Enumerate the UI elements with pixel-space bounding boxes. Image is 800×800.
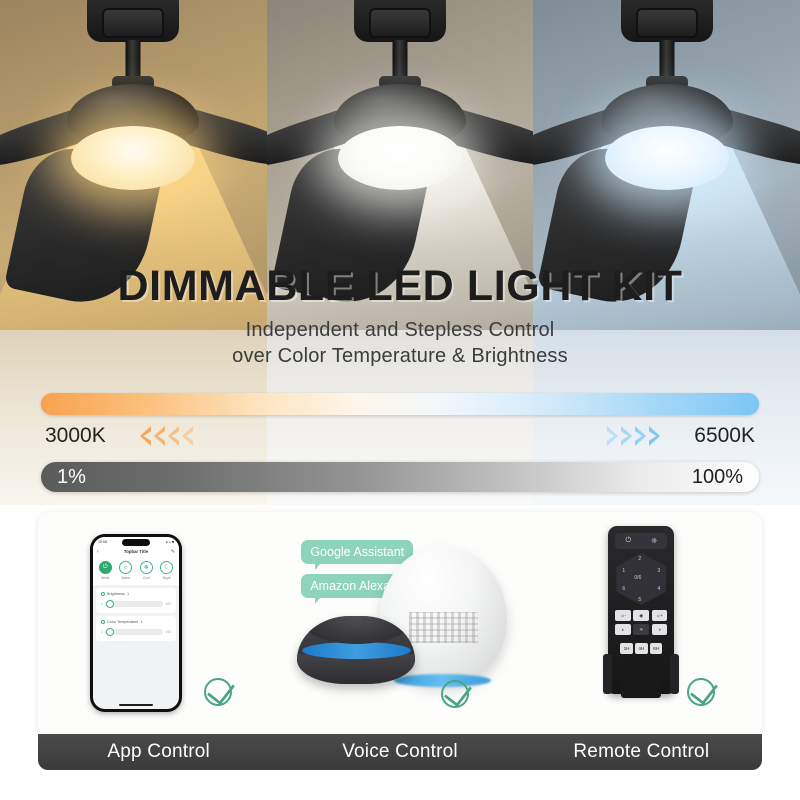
fan-icon[interactable]: ❊ [651, 537, 657, 545]
speed-3[interactable]: 3 [658, 568, 661, 574]
speed-5[interactable]: 5 [638, 597, 641, 603]
color-temperature-slider[interactable]: 1 100 [101, 629, 171, 635]
remote-function-row-1: ☼- ◉ ☼+ [615, 610, 667, 621]
slider-min: 1 [101, 602, 103, 606]
status-icons: ▸ ▵ ■ [166, 540, 174, 544]
ceiling-mount [354, 0, 446, 42]
status-time: 10:08 [98, 540, 107, 544]
power-icon[interactable]: ⏻ [625, 537, 631, 545]
brightness-max-label: 100% [692, 466, 743, 489]
slider-min: 1 [101, 630, 103, 634]
brightness-icon [101, 592, 105, 596]
google-assistant-bubble: Google Assistant [301, 540, 413, 564]
phone-status-bar: 10:08 ▸ ▵ ■ [93, 537, 179, 546]
brightness-slider[interactable]: 1 100 [101, 601, 171, 607]
echo-dot-top [302, 616, 411, 644]
brightness-value: 1 [127, 592, 129, 596]
phone-notch [122, 539, 150, 546]
echo-dot-speaker [297, 616, 415, 684]
control-methods-columns: 10:08 ▸ ▵ ■ ‹ Topbar Title ✎ ⏻ White [38, 512, 762, 734]
fan-speed-hex-pad[interactable]: 2 1 3 0/6 6 4 5 [616, 553, 666, 605]
moon-icon: ☾ [160, 561, 173, 574]
led-light-kit [71, 126, 195, 190]
mode-warm[interactable]: ☼ Warm [116, 561, 136, 580]
dim-down-icon[interactable]: ☼- [615, 610, 631, 621]
title-block: DIMMABLE LED LIGHT KIT Independent and S… [0, 262, 800, 368]
slider-max: 100 [165, 602, 171, 606]
dim-up-icon[interactable]: ☼+ [652, 610, 668, 621]
speed-4[interactable]: 4 [658, 586, 661, 592]
timer-4h-button[interactable]: 4H [635, 643, 647, 654]
timer-8h-button[interactable]: 8H [650, 643, 662, 654]
light-mode-row: ⏻ White ☼ Warm ❄ Cool ☾ [93, 557, 179, 585]
mode-night[interactable]: ☾ Night [157, 561, 177, 580]
check-circle-icon [685, 675, 719, 709]
speed-1[interactable]: 1 [622, 568, 625, 574]
light-toggle-icon[interactable]: ◉ [633, 610, 649, 621]
slider-knob[interactable] [106, 600, 114, 608]
mode-label: Warm [116, 576, 136, 580]
mode-cool[interactable]: ❄ Cool [136, 561, 156, 580]
speed-2[interactable]: 2 [638, 556, 641, 562]
footer-label-app: App Control [38, 734, 279, 770]
back-chevron-icon[interactable]: ‹ [97, 549, 99, 555]
color-temperature-bar[interactable] [41, 393, 759, 415]
remote-function-row-2: ◐ ☀ ◑ [615, 624, 667, 635]
slider-knob[interactable] [106, 628, 114, 636]
cool-chevrons-icon [607, 426, 661, 446]
app-topbar-title: Topbar Title [124, 549, 148, 554]
cool-icon[interactable]: ◑ [652, 624, 668, 635]
remote-holder-clip [603, 654, 612, 694]
check-circle-icon [439, 677, 473, 711]
power-icon: ⏻ [99, 561, 112, 574]
page-title: DIMMABLE LED LIGHT KIT [0, 262, 800, 311]
remote-top-buttons[interactable]: ⏻ ❊ [615, 533, 667, 549]
mode-label: Cool [136, 576, 156, 580]
ceiling-mount [87, 0, 179, 42]
mode-label: White [95, 576, 115, 580]
timer-1h-button[interactable]: 1H [620, 643, 632, 654]
led-light-kit [605, 126, 729, 190]
voice-control-column: Google Assistant Amazon Alexa [279, 512, 520, 734]
color-temperature-icon [101, 620, 105, 624]
phone-screen: 10:08 ▸ ▵ ■ ‹ Topbar Title ✎ ⏻ White [93, 537, 179, 709]
app-control-column: 10:08 ▸ ▵ ■ ‹ Topbar Title ✎ ⏻ White [38, 512, 279, 734]
subtitle-line-2: over Color Temperature & Brightness [0, 345, 800, 368]
brightness-slider-card: Brightness 1 1 100 [96, 588, 176, 613]
app-topbar: ‹ Topbar Title ✎ [93, 546, 179, 557]
brightness-label: Brightness [107, 592, 125, 596]
echo-display [409, 612, 478, 642]
control-methods-footer: App Control Voice Control Remote Control [38, 734, 762, 770]
warm-chevrons-icon [139, 426, 193, 446]
color-temperature-label: Color Temperature [107, 620, 138, 624]
footer-label-remote: Remote Control [521, 734, 762, 770]
temperature-max-label: 6500K [694, 424, 755, 448]
subtitle-line-1: Independent and Stepless Control [0, 319, 800, 342]
speed-center-label: 0/6 [634, 575, 641, 581]
echo-dot-light-ring [302, 642, 411, 659]
ceiling-mount [621, 0, 713, 42]
slider-track[interactable] [105, 601, 163, 607]
snowflake-icon: ❄ [140, 561, 153, 574]
remote-holder-clip [670, 654, 679, 694]
product-infographic: DIMMABLE LED LIGHT KIT Independent and S… [0, 0, 800, 800]
warm-icon[interactable]: ◐ [615, 624, 631, 635]
brightness-bar[interactable]: 1% 100% [41, 462, 759, 492]
remote-control-column: ⏻ ❊ 2 1 3 0/6 6 4 5 ☼- ◉ ☼+ [521, 512, 762, 734]
color-temperature-labels: 3000K 6500K [41, 424, 759, 450]
slider-max: 100 [165, 630, 171, 634]
pencil-icon[interactable]: ✎ [171, 549, 175, 555]
remote-holder-body [621, 654, 661, 698]
mode-label: Night [157, 576, 177, 580]
temperature-min-label: 3000K [45, 424, 106, 448]
light-bulb-icon[interactable]: ☀ [633, 624, 649, 635]
smartphone-mockup: 10:08 ▸ ▵ ■ ‹ Topbar Title ✎ ⏻ White [90, 534, 182, 712]
brightness-min-label: 1% [57, 466, 86, 489]
color-temperature-row: Color Temperature 1 [101, 620, 171, 624]
color-temperature-value: 1 [140, 620, 142, 624]
check-circle-icon [202, 675, 236, 709]
remote-control-device: ⏻ ❊ 2 1 3 0/6 6 4 5 ☼- ◉ ☼+ [608, 526, 674, 694]
color-temperature-slider-card: Color Temperature 1 1 100 [96, 616, 176, 641]
remote-timer-row: 1H 4H 8H [620, 643, 662, 654]
brightness-row: Brightness 1 [101, 592, 171, 596]
slider-track[interactable] [105, 629, 163, 635]
mode-white[interactable]: ⏻ White [95, 561, 115, 580]
home-indicator [119, 704, 153, 706]
footer-label-voice: Voice Control [279, 734, 520, 770]
sun-icon: ☼ [119, 561, 132, 574]
speed-6[interactable]: 6 [622, 586, 625, 592]
led-light-kit [338, 126, 462, 190]
